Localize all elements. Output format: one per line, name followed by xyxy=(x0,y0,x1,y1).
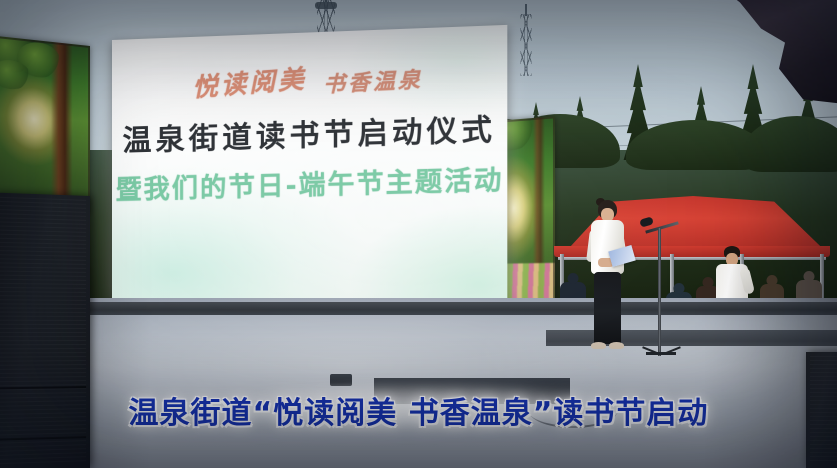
microphone-head xyxy=(639,216,654,227)
video-frame: 悦读阅美书香温泉 温泉街道读书节启动仪式 暨我们的节日-端午节主题活动 xyxy=(0,0,837,468)
woman-black-trousers xyxy=(594,272,621,344)
tower-lattice-secondary xyxy=(520,14,531,76)
equipment-texture xyxy=(810,356,837,464)
foreground-equipment-right xyxy=(806,352,837,468)
silhouette-head xyxy=(804,271,815,282)
screen-calligraphy-part1: 悦读阅美 xyxy=(192,64,307,102)
microphone-stand xyxy=(640,212,684,360)
pa-speaker-cabinet-left xyxy=(0,193,90,468)
stage-front-edge xyxy=(0,302,837,315)
woman-shoe xyxy=(609,342,624,349)
screen-calligraphy-part2: 书香温泉 xyxy=(323,63,423,99)
panel-frame xyxy=(0,35,90,214)
woman-speaking-at-microphone xyxy=(586,200,630,358)
woman-shoe xyxy=(591,342,606,349)
stage-step xyxy=(330,374,352,386)
microphone-pole xyxy=(658,228,661,356)
floor-cable xyxy=(528,392,618,428)
microphone-base xyxy=(646,352,676,355)
side-led-panel-left xyxy=(0,35,90,214)
lattice-transmission-tower-secondary xyxy=(520,14,531,76)
speaker-grille xyxy=(0,197,86,467)
silhouette-head xyxy=(568,273,579,284)
main-led-screen: 悦读阅美书香温泉 温泉街道读书节启动仪式 暨我们的节日-端午节主题活动 xyxy=(112,25,507,312)
silhouette-head xyxy=(767,275,778,286)
